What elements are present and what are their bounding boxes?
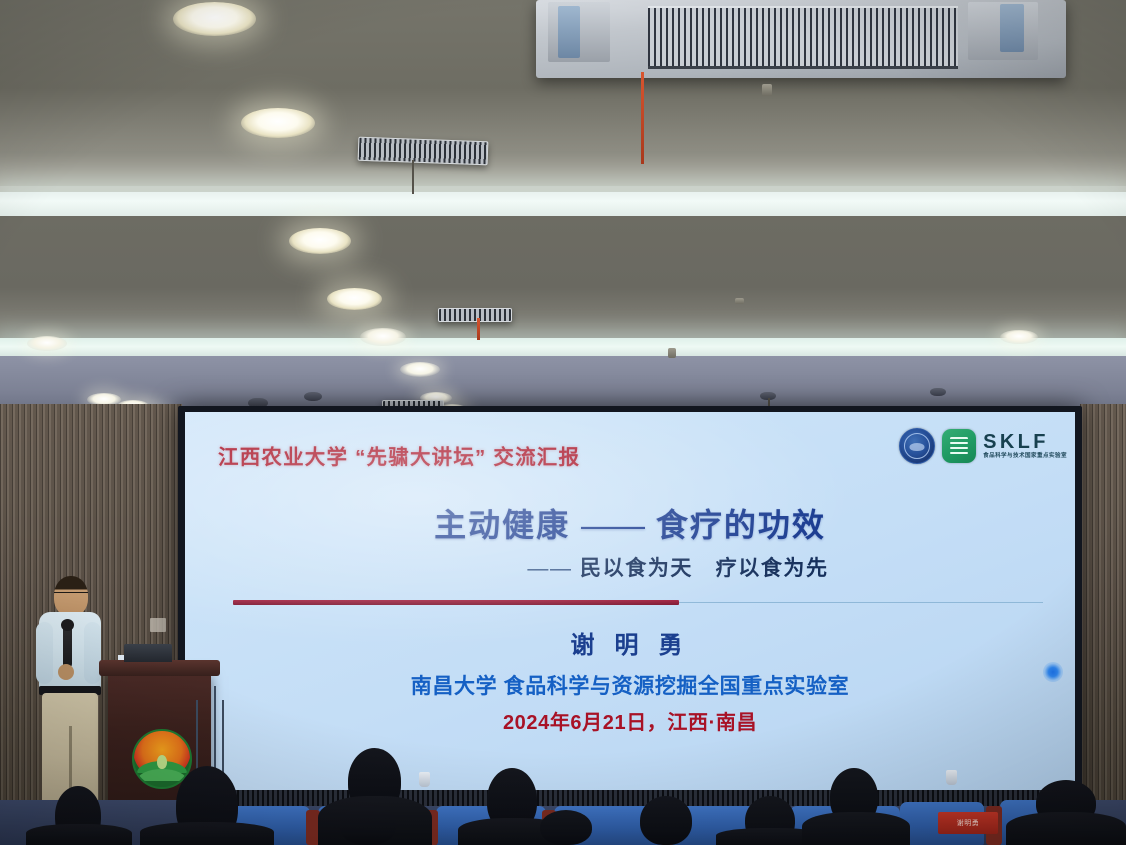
downlight-icon <box>1000 330 1038 344</box>
downlight-icon <box>241 108 315 138</box>
ceiling-air-vent <box>358 137 489 166</box>
sklf-acronym-text: SKLF <box>983 432 1067 452</box>
ceiling-middle-plane <box>0 216 1126 346</box>
sprinkler-head-icon <box>668 348 676 358</box>
presenter-arm-right <box>84 622 101 684</box>
cove-light-strip <box>0 192 1126 218</box>
presenter-hand <box>58 664 74 680</box>
acoustic-wall-panel-right <box>1080 404 1126 845</box>
ceiling-air-vent <box>438 308 512 322</box>
slide-title-left: 主动健康 <box>434 507 570 543</box>
audience-shoulders <box>1006 812 1126 845</box>
audience-head <box>340 806 396 845</box>
slide-subtitle: —— 民以食为天 疗以食为先 <box>185 552 1075 582</box>
downlight-icon <box>360 328 406 346</box>
presenter-arm-left <box>36 622 53 684</box>
downlight-icon <box>173 2 256 36</box>
slide-subtitle-text: 民以食为天 疗以食为先 <box>580 557 829 580</box>
slide-logo-row: SKLF 食品科学与技术国家重点实验室 <box>899 428 1067 464</box>
lecture-hall-photo: 江西农业大学 “先骕大讲坛” 交流汇报 SKLF 食品科学与技术国家重点实验室 … <box>0 0 1126 845</box>
downlight-icon <box>27 336 67 351</box>
slide-affiliation: 南昌大学 食品科学与资源挖掘全国重点实验室 <box>185 670 1075 700</box>
smoke-detector-icon <box>930 388 946 396</box>
slide-divider-rule <box>233 598 1043 607</box>
emblem-leaf <box>157 755 167 769</box>
projection-screen: 江西农业大学 “先骕大讲坛” 交流汇报 SKLF 食品科学与技术国家重点实验室 … <box>185 412 1075 799</box>
audience-shoulders <box>802 812 910 845</box>
sprinkler-head-icon <box>762 84 772 96</box>
name-placard: 谢明勇 <box>938 812 998 834</box>
sklf-wordmark: SKLF 食品科学与技术国家重点实验室 <box>983 432 1067 460</box>
lectern-top-surface <box>99 660 220 676</box>
ac-unit-blue-panel <box>558 6 580 58</box>
sklf-mark-icon <box>942 429 976 463</box>
slide-title-right: 食疗的功效 <box>656 507 826 543</box>
audience-shoulders <box>140 822 274 845</box>
slide-divider-thick-line <box>233 600 679 605</box>
slide-date-location: 2024年6月21日，江西·南昌 <box>185 706 1075 735</box>
sklf-fullname-text: 食品科学与技术国家重点实验室 <box>983 454 1067 460</box>
name-placard-text: 谢明勇 <box>957 818 980 828</box>
downlight-icon <box>400 362 440 377</box>
ceiling-fixture-icon <box>735 298 744 304</box>
nanchang-university-seal-icon <box>899 428 935 464</box>
wall-switch-plate <box>150 618 166 632</box>
red-hanging-cable <box>641 72 644 164</box>
slide-speaker-name: 谢 明 勇 <box>185 625 1075 660</box>
laptop <box>124 644 172 662</box>
ac-unit-grille <box>648 6 958 69</box>
audience-head <box>640 796 692 845</box>
water-cup <box>419 772 430 787</box>
hanging-cable <box>412 160 414 194</box>
red-hanging-cable <box>477 318 480 340</box>
downlight-icon <box>327 288 382 310</box>
slide-main-title: 主动健康 —— 食疗的功效 <box>185 500 1075 546</box>
ac-unit-blue-panel <box>1000 4 1024 52</box>
handheld-microphone <box>63 624 72 668</box>
audience-head <box>540 810 592 845</box>
slide-header-text: 江西农业大学 “先骕大讲坛” 交流汇报 <box>218 440 580 470</box>
water-cup <box>946 770 957 785</box>
projector-icon <box>304 392 322 401</box>
slide-title-dash: —— <box>581 507 645 543</box>
downlight-icon <box>289 228 351 254</box>
slide-subtitle-dash: —— <box>527 557 572 580</box>
audience-shoulders <box>26 824 132 845</box>
eyeglasses-icon <box>54 592 88 598</box>
laser-pointer-dot <box>1043 662 1063 682</box>
